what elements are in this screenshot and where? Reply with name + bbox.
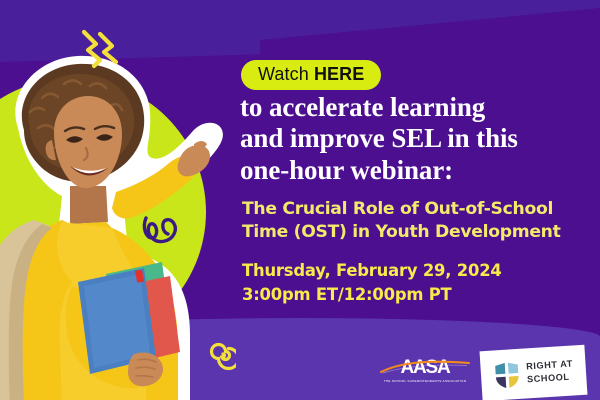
aasa-logo: AASA THE SCHOOL SUPERINTENDENTS ASSOCIAT… (379, 358, 471, 388)
badge-prefix: Watch (258, 64, 314, 84)
schedule-date: Thursday, February 29, 2024 (242, 259, 592, 283)
watch-here-badge[interactable]: Watch HERE (241, 60, 381, 90)
zigzag-decoration (78, 26, 134, 70)
promo-poster: Watch HERE to accelerate learning and im… (0, 0, 600, 400)
headline-line-1: to accelerate learning (240, 92, 600, 123)
headline-line-2: and improve SEL in this (240, 123, 600, 154)
schedule-time: 3:00pm ET/12:00pm PT (242, 283, 592, 307)
photo-stage (0, 0, 236, 400)
loop-squiggle-decoration (140, 212, 184, 246)
spiral-decoration (205, 337, 236, 373)
student-photo (0, 36, 236, 400)
content-column: Watch HERE to accelerate learning and im… (238, 0, 600, 400)
right-at-school-logo: RIGHT AT SCHOOL (480, 345, 588, 400)
schedule: Thursday, February 29, 2024 3:00pm ET/12… (242, 259, 592, 307)
headline: to accelerate learning and improve SEL i… (240, 92, 600, 186)
ras-line-2: SCHOOL (527, 370, 575, 386)
right-at-school-wordmark: RIGHT AT SCHOOL (526, 357, 574, 387)
webinar-title: The Crucial Role of Out-of-School Time (… (242, 198, 592, 244)
webinar-title-line-2: Time (OST) in Youth Development (242, 221, 592, 244)
webinar-title-line-1: The Crucial Role of Out-of-School (242, 198, 592, 221)
aasa-tagline: THE SCHOOL SUPERINTENDENTS ASSOCIATION (379, 378, 471, 384)
aasa-swoosh-icon (379, 358, 471, 378)
student-illustration (0, 36, 236, 400)
badge-emphasis: HERE (314, 64, 364, 84)
shield-icon (493, 359, 521, 390)
aasa-mark: AASA (379, 358, 471, 378)
headline-line-3: one-hour webinar: (240, 155, 600, 186)
